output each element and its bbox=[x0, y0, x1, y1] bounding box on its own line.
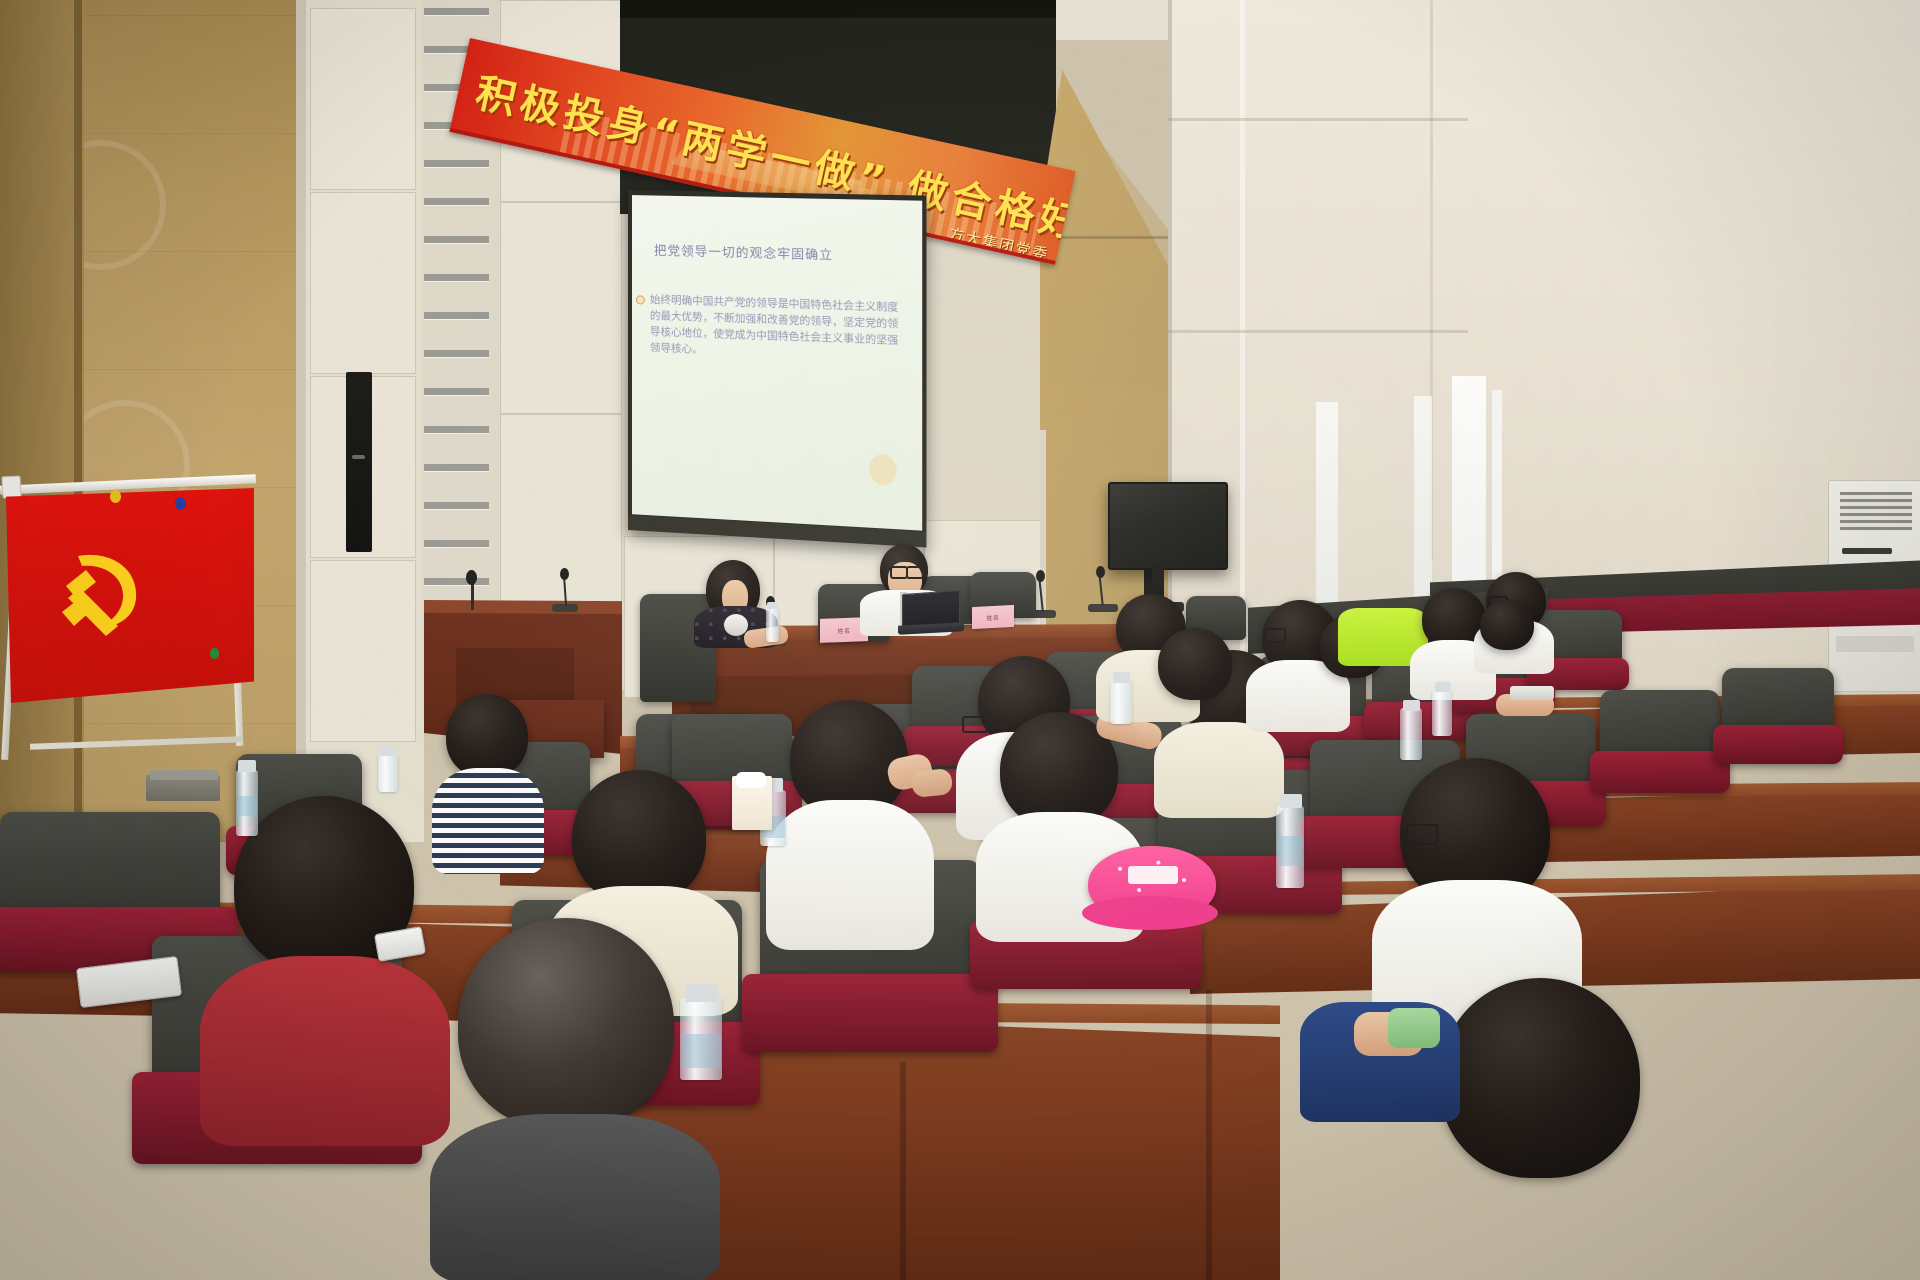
bottle-label bbox=[681, 1034, 721, 1068]
slide-watermark-logo bbox=[869, 454, 896, 486]
projection-screen: 把党领导一切的观念牢固确立 始终明确中国共产党的领导是中国特色社会主义制度的最大… bbox=[628, 190, 926, 547]
bottle-cap bbox=[1403, 700, 1420, 711]
glasses-icon bbox=[1264, 628, 1286, 643]
water-bottle bbox=[378, 754, 398, 792]
water-bottle bbox=[766, 608, 779, 642]
wall-seam bbox=[296, 0, 306, 842]
hammer-and-sickle-emblem bbox=[52, 540, 162, 640]
mic-head bbox=[1096, 566, 1105, 578]
audience-head bbox=[1480, 600, 1534, 650]
auditorium-seat bbox=[1722, 668, 1834, 752]
bottle-label bbox=[237, 796, 257, 816]
wall-panel bbox=[310, 560, 416, 742]
tv-monitor bbox=[1108, 482, 1228, 570]
podium-top-edge bbox=[424, 600, 622, 614]
tissue-sheet bbox=[736, 772, 766, 788]
wall-slot-handle bbox=[352, 455, 365, 459]
flag-clip bbox=[1, 476, 21, 499]
party-flag bbox=[0, 478, 260, 718]
wall-seam bbox=[1168, 0, 1172, 700]
audience-torso-foreground bbox=[430, 1114, 720, 1280]
audience-head bbox=[446, 694, 528, 778]
audience-head bbox=[1158, 628, 1232, 700]
bottle-cap bbox=[1280, 794, 1302, 808]
slide-body-text: 始终明确中国共产党的领导是中国特色社会主义制度的最大优势，不断加强和改善党的领导… bbox=[650, 292, 905, 366]
water-bottle bbox=[1400, 708, 1422, 760]
glasses-icon bbox=[962, 716, 988, 733]
slide-bullet-marker bbox=[636, 295, 645, 304]
flag-pin-green bbox=[210, 648, 219, 659]
slide-title: 把党领导一切的观念牢固确立 bbox=[654, 240, 833, 264]
auditorium-seat bbox=[0, 812, 220, 952]
mobile-phone bbox=[1510, 686, 1554, 700]
cap-brim bbox=[1082, 896, 1218, 930]
glasses-icon bbox=[1406, 824, 1438, 845]
mic-head bbox=[560, 568, 569, 580]
audience-head-foreground bbox=[458, 918, 674, 1130]
ceiling-recess-lip bbox=[620, 0, 1056, 18]
audience-head-foreground bbox=[1440, 978, 1640, 1178]
water-bottle bbox=[1432, 690, 1452, 736]
wall-seam bbox=[1168, 118, 1468, 121]
ac-vent-grille bbox=[1840, 492, 1912, 530]
audience-torso bbox=[1154, 722, 1284, 818]
bottle-cap bbox=[238, 760, 256, 772]
wall-seam bbox=[1240, 0, 1245, 700]
desk-seam bbox=[1206, 990, 1212, 1280]
ac-display bbox=[1842, 548, 1892, 554]
handheld-item bbox=[1388, 1008, 1440, 1048]
flag-cloth bbox=[6, 488, 254, 703]
audience-head bbox=[572, 770, 706, 904]
podium-mic-head bbox=[466, 570, 477, 585]
cap-label-patch bbox=[1128, 866, 1178, 884]
wall-panel bbox=[310, 8, 416, 190]
auditorium-seat bbox=[1600, 690, 1720, 780]
equipment-box-lid bbox=[150, 770, 218, 780]
wall-panel bbox=[500, 414, 622, 626]
desk-seam bbox=[900, 1062, 906, 1280]
bottle-cap bbox=[1113, 672, 1130, 683]
bottle-cap bbox=[767, 602, 778, 609]
bottle-cap bbox=[1435, 682, 1451, 692]
flag-pin-yellow bbox=[110, 490, 121, 503]
audience-torso bbox=[432, 768, 544, 874]
audience-torso bbox=[766, 800, 934, 950]
wall-seam bbox=[1168, 330, 1468, 333]
flag-pin-blue bbox=[175, 497, 186, 510]
bottle-label bbox=[1277, 836, 1303, 866]
photo-scene: 积极投身“两学一做” 做合格好党员 方大集团党委 把党领导一切的观念牢固确立 始… bbox=[0, 0, 1920, 1280]
bottle-cap bbox=[380, 746, 396, 756]
wall-slot-recess bbox=[346, 372, 372, 552]
bottle-cap bbox=[685, 984, 717, 1002]
ac-lower-panel bbox=[1836, 636, 1914, 652]
audience-torso-foreground bbox=[200, 956, 450, 1146]
water-bottle bbox=[1110, 680, 1132, 724]
wall-panel bbox=[310, 192, 416, 374]
glasses-icon bbox=[906, 566, 924, 579]
screen-surface: 把党领导一切的观念牢固确立 始终明确中国共产党的领导是中国特色社会主义制度的最大… bbox=[632, 195, 922, 531]
speaker-left-logo-badge bbox=[724, 614, 748, 636]
mic-head bbox=[1036, 570, 1045, 582]
name-card: 姓名 bbox=[972, 605, 1014, 629]
